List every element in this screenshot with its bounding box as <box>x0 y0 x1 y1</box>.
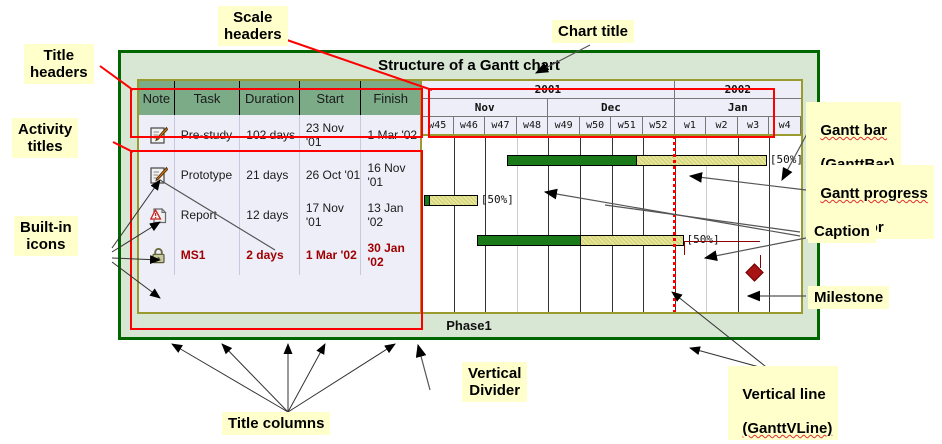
callout-chart-title: Chart title <box>552 20 634 43</box>
callout-vertical-line: Vertical line (GanttVLine) <box>728 366 838 440</box>
highlight-title-headers <box>130 88 423 138</box>
callout-caption: Caption <box>808 220 876 243</box>
callout-vertical-divider: Vertical Divider <box>462 362 527 402</box>
callout-gantt-bar-line1: Gantt bar <box>820 122 887 139</box>
callout-milestone: Milestone <box>808 286 889 309</box>
prototype-bar[interactable] <box>424 195 479 206</box>
gantt-grid: [50%] [50%] [50%] <box>422 136 801 312</box>
highlight-activity-titles <box>130 150 423 330</box>
callout-title-headers: Title headers <box>24 44 94 84</box>
report-bar[interactable] <box>477 235 684 246</box>
callout-activity-titles: Activity titles <box>12 118 78 158</box>
milestone-stem <box>760 255 761 268</box>
chart-title: Structure of a Gantt chart <box>121 57 817 74</box>
highlight-scale-headers <box>428 88 775 138</box>
pre-study-progress-indicator <box>508 156 637 165</box>
callout-vertical-line-line1: Vertical line <box>742 386 825 403</box>
gantt-vertical-line <box>673 136 676 312</box>
prototype-progress-indicator <box>425 196 431 205</box>
callout-title-columns: Title columns <box>222 412 330 435</box>
callout-gantt-progress-line1: Gantt progress <box>820 185 928 202</box>
grid-line <box>454 136 455 312</box>
milestone-connector <box>684 241 760 255</box>
pre-study-caption: [50%] <box>770 153 801 166</box>
prototype-caption: [50%] <box>481 193 514 206</box>
report-progress-indicator <box>478 236 580 245</box>
pre-study-bar[interactable] <box>507 155 767 166</box>
callout-vertical-line-line2: (GanttVLine) <box>742 420 832 437</box>
grid-line <box>485 136 486 312</box>
callout-scale-headers: Scale headers <box>218 6 288 46</box>
callout-builtin-icons: Built-in icons <box>14 216 78 256</box>
